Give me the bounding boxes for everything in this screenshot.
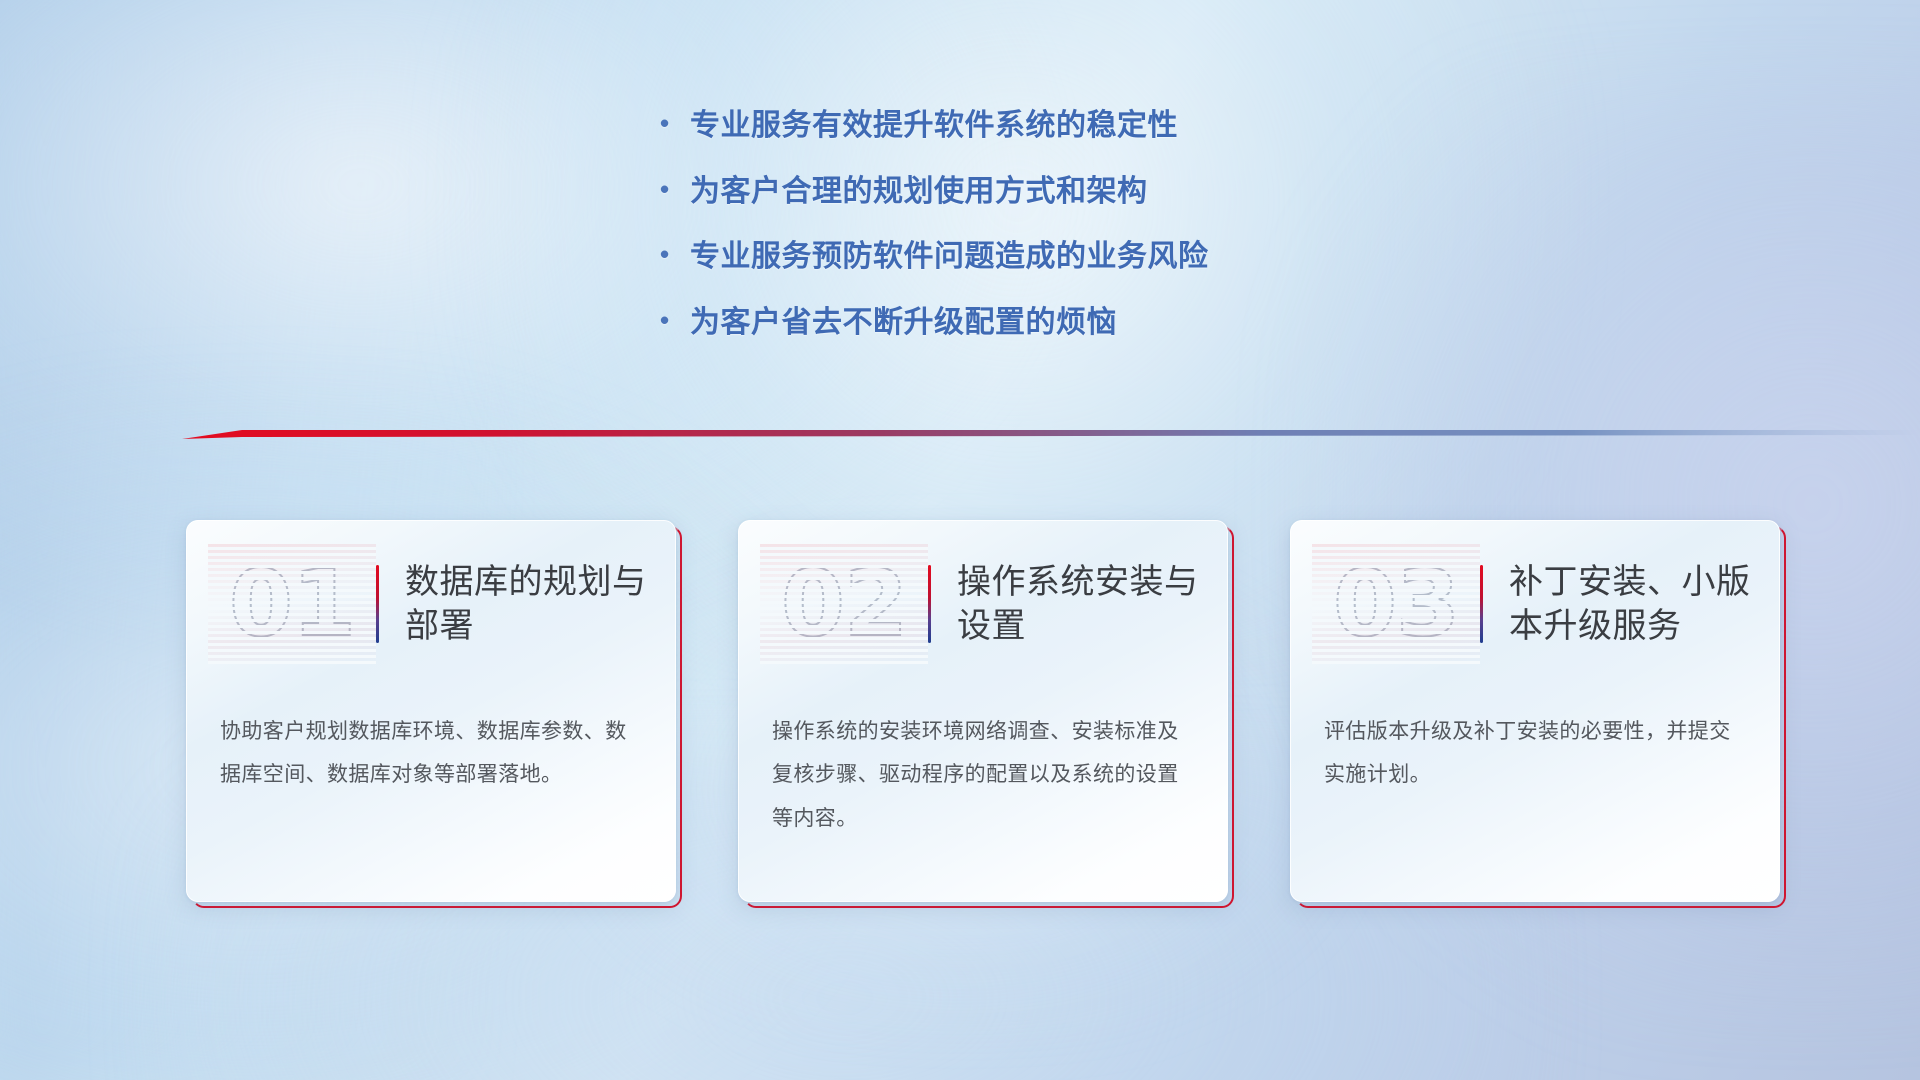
bullet-item: • 为客户合理的规划使用方式和架构 <box>660 174 1480 211</box>
bullet-text: 为客户合理的规划使用方式和架构 <box>690 174 1480 211</box>
service-card-list: 01 数据库的规划与部署 协助客户规划数据库环境、数据库参数、数据库空间、数据库… <box>186 520 1920 920</box>
service-card[interactable]: 03 补丁安装、小版本升级服务 评估版本升级及补丁安装的必要性，并提交实施计划。 <box>1290 520 1786 908</box>
card-header: 01 数据库的规划与部署 <box>186 544 676 664</box>
card-panel: 02 操作系统安装与设置 操作系统的安装环境网络调查、安装标准及复核步骤、驱动程… <box>738 520 1228 902</box>
card-panel: 01 数据库的规划与部署 协助客户规划数据库环境、数据库参数、数据库空间、数据库… <box>186 520 676 902</box>
card-title: 操作系统安装与设置 <box>957 560 1228 648</box>
bullet-item: • 专业服务有效提升软件系统的稳定性 <box>660 108 1480 145</box>
service-card[interactable]: 01 数据库的规划与部署 协助客户规划数据库环境、数据库参数、数据库空间、数据库… <box>186 520 682 908</box>
bullet-text: 专业服务有效提升软件系统的稳定性 <box>690 108 1480 145</box>
card-number-graphic: 01 <box>208 544 376 664</box>
card-header: 03 补丁安装、小版本升级服务 <box>1290 544 1780 664</box>
card-panel: 03 补丁安装、小版本升级服务 评估版本升级及补丁安装的必要性，并提交实施计划。 <box>1290 520 1780 902</box>
card-title-accent-bar <box>928 565 931 643</box>
card-body-text: 协助客户规划数据库环境、数据库参数、数据库空间、数据库对象等部署落地。 <box>220 710 646 797</box>
bullet-marker-icon: • <box>660 239 690 271</box>
card-title-accent-bar <box>1480 565 1483 643</box>
card-number: 02 <box>781 558 907 650</box>
divider-shape-icon <box>182 424 1920 448</box>
card-header: 02 操作系统安装与设置 <box>738 544 1228 664</box>
bullet-text: 为客户省去不断升级配置的烦恼 <box>690 305 1480 342</box>
card-title-accent-bar <box>376 565 379 643</box>
card-body-text: 评估版本升级及补丁安装的必要性，并提交实施计划。 <box>1324 710 1750 797</box>
card-number-graphic: 03 <box>1312 544 1480 664</box>
bullet-marker-icon: • <box>660 305 690 337</box>
bullet-item: • 为客户省去不断升级配置的烦恼 <box>660 305 1480 342</box>
service-card[interactable]: 02 操作系统安装与设置 操作系统的安装环境网络调查、安装标准及复核步骤、驱动程… <box>738 520 1234 908</box>
bullet-text: 专业服务预防软件问题造成的业务风险 <box>690 239 1480 276</box>
benefits-bullet-list: • 专业服务有效提升软件系统的稳定性 • 为客户合理的规划使用方式和架构 • 专… <box>660 108 1480 370</box>
card-body-text: 操作系统的安装环境网络调查、安装标准及复核步骤、驱动程序的配置以及系统的设置等内… <box>772 710 1198 840</box>
card-title: 数据库的规划与部署 <box>405 560 676 648</box>
card-title: 补丁安装、小版本升级服务 <box>1509 560 1780 648</box>
bullet-item: • 专业服务预防软件问题造成的业务风险 <box>660 239 1480 276</box>
bullet-marker-icon: • <box>660 174 690 206</box>
section-divider <box>182 424 1920 448</box>
card-number: 01 <box>229 558 355 650</box>
card-number-graphic: 02 <box>760 544 928 664</box>
card-number: 03 <box>1333 558 1459 650</box>
bullet-marker-icon: • <box>660 108 690 140</box>
